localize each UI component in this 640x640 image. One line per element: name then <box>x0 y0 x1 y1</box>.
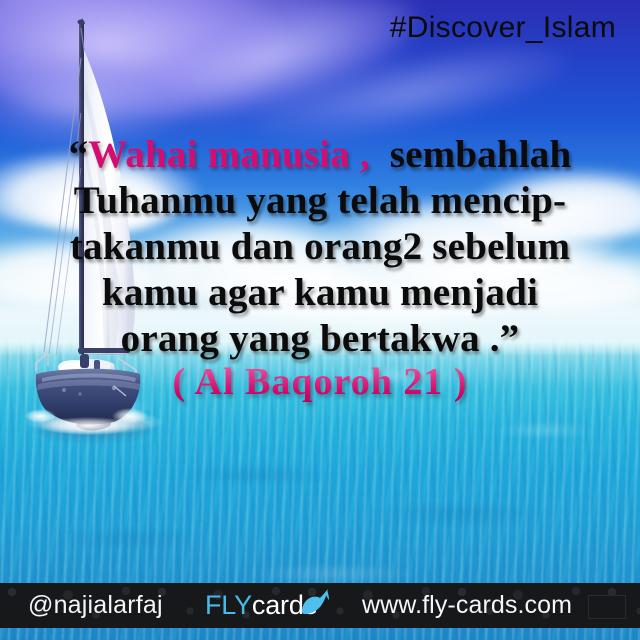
website-url[interactable]: www.fly-cards.com <box>362 591 572 620</box>
quote-line-3: takanmu dan orang2 sebelum <box>0 224 640 270</box>
brand-fly: FLY <box>205 590 252 620</box>
quote-line-2: Tuhanmu yang telah mencip- <box>0 178 640 224</box>
author-handle[interactable]: @najialarfaj <box>28 591 163 620</box>
indonesia-flag-icon <box>588 595 626 619</box>
quote-line-1-black: sembahlah <box>390 133 572 176</box>
islamic-quote-card: #Discover_Islam “Wahai manusia , sembahl… <box>0 0 640 640</box>
quote-line-4: kamu agar kamu menjadi <box>0 270 640 316</box>
quote-line-5: orang yang bertakwa .” <box>0 316 640 362</box>
quote-citation: ( Al Baqoroh 21 ) <box>0 360 640 404</box>
quote-text: “Wahai manusia , sembahlah Tuhanmu yang … <box>0 132 640 362</box>
quote-line-1: “Wahai manusia , sembahlah <box>0 132 640 178</box>
footer-bar: @najialarfaj FLYcards www.fly-cards.com <box>0 583 640 628</box>
bird-icon <box>293 588 333 627</box>
quote-line-1-pink: Wahai manusia , <box>88 133 370 176</box>
quote-open-mark: “ <box>69 133 89 176</box>
hashtag-label: #Discover_Islam <box>390 11 616 45</box>
